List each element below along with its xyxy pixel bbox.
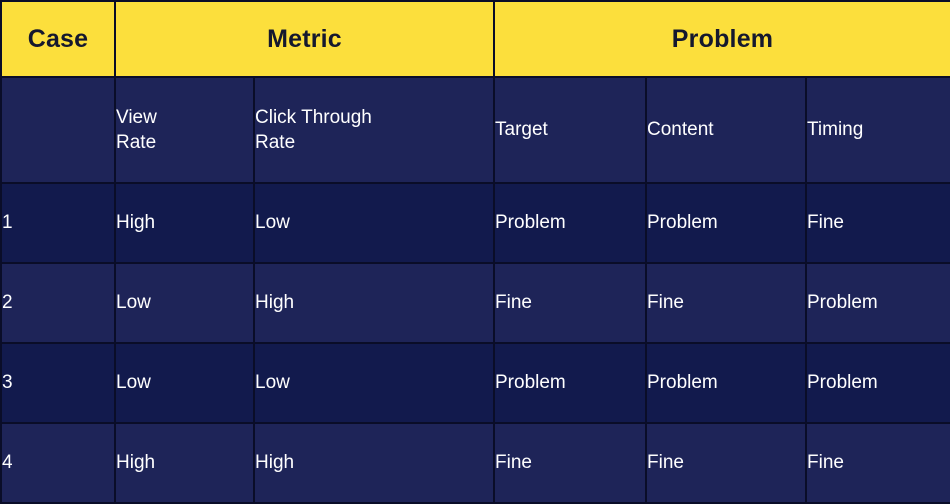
- group-header-row: Case Metric Problem: [1, 1, 950, 77]
- cell-view-rate: Low: [115, 263, 254, 343]
- column-header-row: View Rate Click Through Rate Target Cont…: [1, 77, 950, 183]
- cell-click-through-rate: Low: [254, 183, 494, 263]
- cell-click-through-rate: Low: [254, 343, 494, 423]
- cell-timing: Problem: [806, 263, 950, 343]
- column-header-click-through-rate-line2: Rate: [255, 130, 493, 155]
- cell-view-rate: High: [115, 423, 254, 503]
- cell-timing: Problem: [806, 343, 950, 423]
- column-header-target: Target: [494, 77, 646, 183]
- group-header-problem: Problem: [494, 1, 950, 77]
- cell-case: 4: [1, 423, 115, 503]
- column-header-click-through-rate-line1: Click Through: [255, 105, 493, 130]
- table-row: 1 High Low Problem Problem Fine: [1, 183, 950, 263]
- cell-case: 1: [1, 183, 115, 263]
- cell-view-rate: High: [115, 183, 254, 263]
- cell-content: Fine: [646, 423, 806, 503]
- cell-target: Fine: [494, 263, 646, 343]
- cell-content: Fine: [646, 263, 806, 343]
- cell-timing: Fine: [806, 423, 950, 503]
- column-header-timing: Timing: [806, 77, 950, 183]
- table-row: 3 Low Low Problem Problem Problem: [1, 343, 950, 423]
- cell-target: Problem: [494, 343, 646, 423]
- cell-content: Problem: [646, 183, 806, 263]
- cell-click-through-rate: High: [254, 263, 494, 343]
- group-header-metric: Metric: [115, 1, 494, 77]
- cell-case: 2: [1, 263, 115, 343]
- column-header-view-rate-line2: Rate: [116, 130, 253, 155]
- cell-case: 3: [1, 343, 115, 423]
- cell-content: Problem: [646, 343, 806, 423]
- cell-target: Fine: [494, 423, 646, 503]
- table-body: 1 High Low Problem Problem Fine 2 Low Hi…: [1, 183, 950, 503]
- column-header-view-rate: View Rate: [115, 77, 254, 183]
- cell-target: Problem: [494, 183, 646, 263]
- cell-click-through-rate: High: [254, 423, 494, 503]
- column-header-view-rate-line1: View: [116, 105, 253, 130]
- column-header-content: Content: [646, 77, 806, 183]
- table-row: 2 Low High Fine Fine Problem: [1, 263, 950, 343]
- cell-timing: Fine: [806, 183, 950, 263]
- case-metric-problem-table: Case Metric Problem View Rate Click Thro…: [0, 0, 950, 504]
- group-header-case: Case: [1, 1, 115, 77]
- table-row: 4 High High Fine Fine Fine: [1, 423, 950, 503]
- cell-view-rate: Low: [115, 343, 254, 423]
- column-header-blank-corner: [1, 77, 115, 183]
- column-header-click-through-rate: Click Through Rate: [254, 77, 494, 183]
